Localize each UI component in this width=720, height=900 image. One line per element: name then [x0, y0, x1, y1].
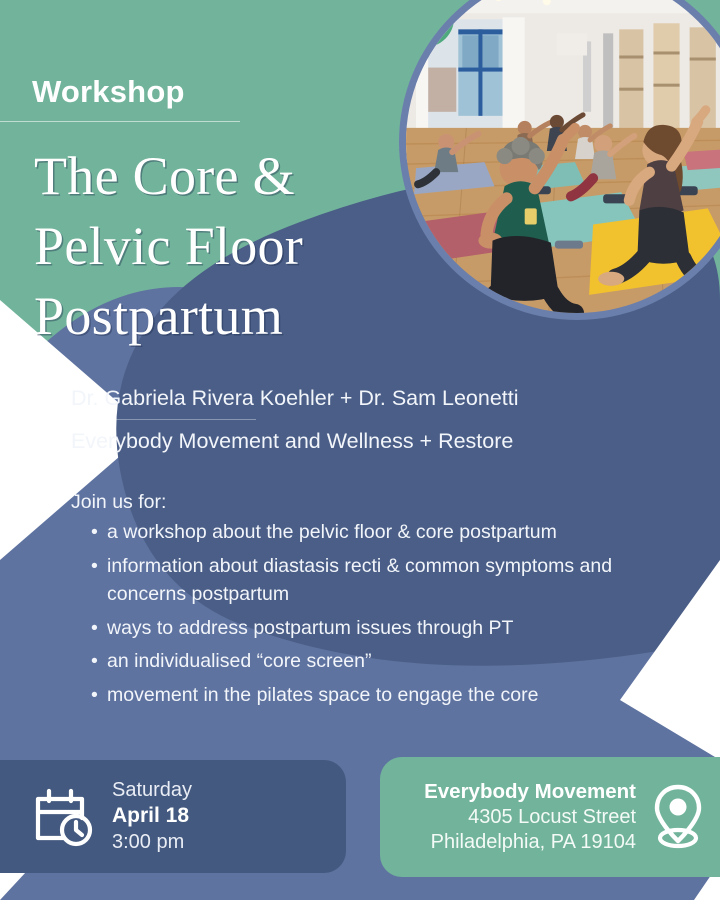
- location-card: Everybody Movement 4305 Locust Street Ph…: [380, 757, 720, 877]
- list-item: • a workshop about the pelvic floor & co…: [71, 518, 671, 547]
- date-time: 3:00 pm: [112, 829, 192, 855]
- presenter-organizations: Everybody Movement and Wellness + Restor…: [71, 426, 671, 456]
- poster: Workshop The Core & Pelvic Floor Postpar…: [0, 0, 720, 900]
- bullet-marker-icon: •: [91, 614, 98, 643]
- eyebrow-label: Workshop: [32, 74, 185, 110]
- list-item-label: a workshop about the pelvic floor & core…: [107, 521, 557, 543]
- eyebrow-divider: [0, 121, 240, 122]
- page-title: The Core & Pelvic Floor Postpartum: [34, 141, 434, 351]
- map-pin-icon: [650, 783, 706, 851]
- list-item-label: information about diastasis recti & comm…: [107, 555, 612, 606]
- studio-photo-illustration: [406, 0, 720, 313]
- list-item: • ways to address postpartum issues thro…: [71, 614, 671, 643]
- page-title-line-2: Pelvic Floor: [34, 211, 434, 281]
- date-card: Saturday April 18 3:00 pm: [0, 760, 346, 873]
- location-card-text: Everybody Movement 4305 Locust Street Ph…: [398, 779, 636, 856]
- date-value: April 18: [112, 803, 192, 829]
- list-item-label: ways to address postpartum issues throug…: [107, 617, 513, 639]
- presenters: Dr. Gabriela Rivera Koehler + Dr. Sam Le…: [71, 383, 671, 456]
- date-card-text: Saturday April 18 3:00 pm: [112, 778, 192, 855]
- venue-street: 4305 Locust Street: [398, 805, 636, 831]
- bullet-marker-icon: •: [91, 552, 98, 581]
- presenter-divider: [71, 419, 256, 420]
- page-title-line-1: The Core &: [34, 141, 434, 211]
- page-title-line-3: Postpartum: [34, 281, 434, 351]
- workshop-details-list: • a workshop about the pelvic floor & co…: [71, 518, 671, 714]
- studio-photo-clip: [406, 0, 720, 313]
- studio-photo: [399, 0, 720, 320]
- calendar-clock-icon: [32, 786, 94, 848]
- presenter-names: Dr. Gabriela Rivera Koehler + Dr. Sam Le…: [71, 383, 671, 413]
- venue-city-state-zip: Philadelphia, PA 19104: [398, 830, 636, 856]
- list-item: • information about diastasis recti & co…: [71, 552, 671, 609]
- bullet-marker-icon: •: [91, 681, 98, 710]
- bullet-marker-icon: •: [91, 518, 98, 547]
- date-weekday: Saturday: [112, 778, 192, 803]
- bullet-marker-icon: •: [91, 647, 98, 676]
- venue-name: Everybody Movement: [398, 779, 636, 805]
- list-item: • movement in the pilates space to engag…: [71, 681, 671, 710]
- list-item-label: an individualised “core screen”: [107, 650, 371, 672]
- list-item-label: movement in the pilates space to engage …: [107, 684, 538, 706]
- list-item: • an individualised “core screen”: [71, 647, 671, 676]
- join-us-intro: Join us for:: [71, 491, 166, 514]
